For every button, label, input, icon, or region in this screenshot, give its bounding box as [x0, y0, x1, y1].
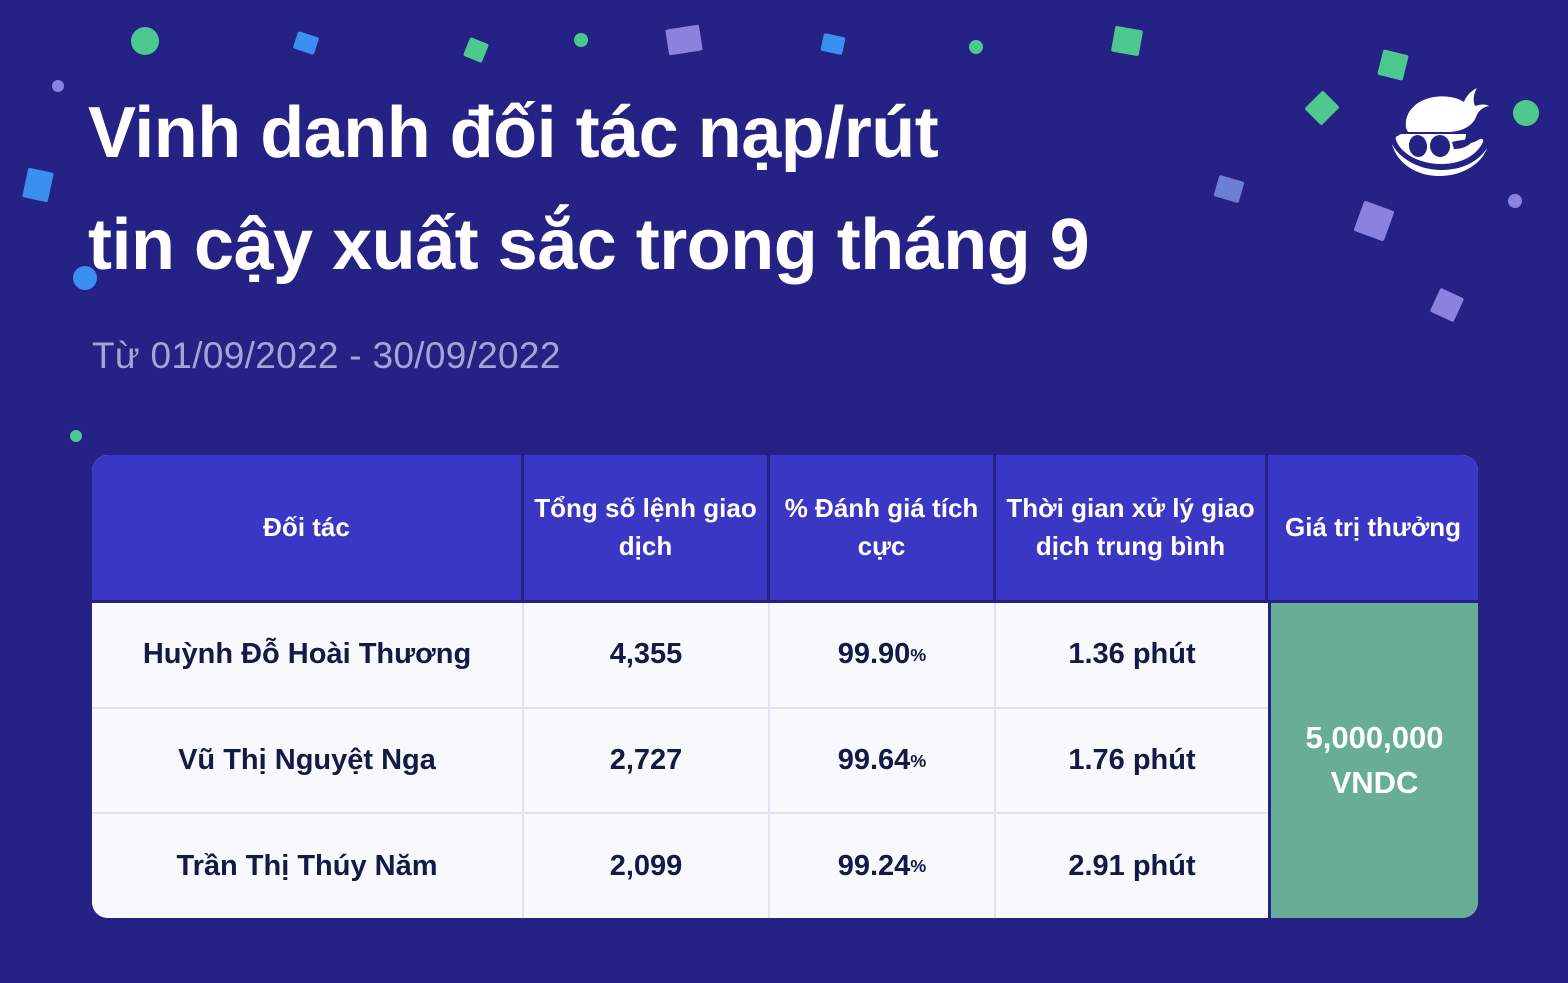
cell-avg-processing-time: 1.36 phút — [996, 603, 1268, 707]
confetti-quad-8 — [1111, 26, 1143, 56]
rating-value: 99.64 — [838, 744, 911, 777]
rating-value: 99.24 — [838, 850, 911, 883]
cell-avg-processing-time: 2.91 phút — [996, 814, 1268, 918]
reward-value-cell: 5,000,000 VNDC — [1268, 603, 1478, 918]
confetti-dot-0 — [131, 27, 159, 55]
confetti-quad-5 — [665, 25, 703, 56]
column-header-positive-rating: % Đánh giá tích cực — [770, 455, 996, 600]
rating-value: 99.90 — [838, 638, 911, 671]
title-block: Vinh danh đối tác nạp/rút tin cậy xuất s… — [88, 78, 1338, 301]
date-range-subtitle: Từ 01/09/2022 - 30/09/2022 — [92, 335, 561, 377]
cell-partner-name: Huỳnh Đỗ Hoài Thương — [92, 603, 524, 707]
cell-positive-rating: 99.64% — [770, 709, 996, 813]
column-header-total-orders: Tổng số lệnh giao dịch — [524, 455, 770, 600]
confetti-dot-7 — [969, 40, 983, 54]
table-rows: Huỳnh Đỗ Hoài Thương4,35599.90%1.36 phút… — [92, 603, 1268, 918]
confetti-quad-12 — [22, 168, 54, 203]
table-row: Huỳnh Đỗ Hoài Thương4,35599.90%1.36 phút — [92, 603, 1268, 709]
ranking-table: Đối tác Tổng số lệnh giao dịch % Đánh gi… — [92, 455, 1478, 918]
table-header-row: Đối tác Tổng số lệnh giao dịch % Đánh gi… — [92, 455, 1478, 603]
table-body: Huỳnh Đỗ Hoài Thương4,35599.90%1.36 phút… — [92, 603, 1478, 918]
table-row: Vũ Thị Nguyệt Nga2,72799.64%1.76 phút — [92, 709, 1268, 815]
confetti-quad-6 — [820, 33, 845, 55]
table-row: Trần Thị Thúy Năm2,09999.24%2.91 phút — [92, 814, 1268, 918]
confetti-quad-3 — [463, 37, 489, 63]
cell-partner-name: Vũ Thị Nguyệt Nga — [92, 709, 524, 813]
page-title-line-1: Vinh danh đối tác nạp/rút — [88, 78, 1338, 190]
cell-total-orders: 2,099 — [524, 814, 770, 918]
confetti-quad-1 — [293, 31, 319, 55]
cell-partner-name: Trần Thị Thúy Năm — [92, 814, 524, 918]
confetti-quad-9 — [1377, 49, 1409, 81]
confetti-quad-17 — [1430, 288, 1465, 323]
column-header-avg-processing-time: Thời gian xử lý giao dịch trung bình — [996, 455, 1268, 600]
confetti-dot-14 — [1508, 194, 1522, 208]
cell-avg-processing-time: 1.76 phút — [996, 709, 1268, 813]
confetti-dot-18 — [70, 430, 82, 442]
confetti-dot-4 — [574, 33, 588, 47]
poster-canvas: Vinh danh đối tác nạp/rút tin cậy xuất s… — [0, 0, 1568, 983]
cell-total-orders: 4,355 — [524, 603, 770, 707]
confetti-quad-16 — [1353, 200, 1394, 241]
cell-total-orders: 2,727 — [524, 709, 770, 813]
cell-positive-rating: 99.90% — [770, 603, 996, 707]
column-header-reward-value: Giá trị thưởng — [1268, 455, 1478, 600]
page-title-line-2: tin cậy xuất sắc trong tháng 9 — [88, 190, 1338, 302]
column-header-partner: Đối tác — [92, 455, 524, 600]
cell-positive-rating: 99.24% — [770, 814, 996, 918]
nami-bird-logo — [1378, 84, 1490, 180]
confetti-dot-2 — [52, 80, 64, 92]
confetti-dot-11 — [1513, 100, 1539, 126]
